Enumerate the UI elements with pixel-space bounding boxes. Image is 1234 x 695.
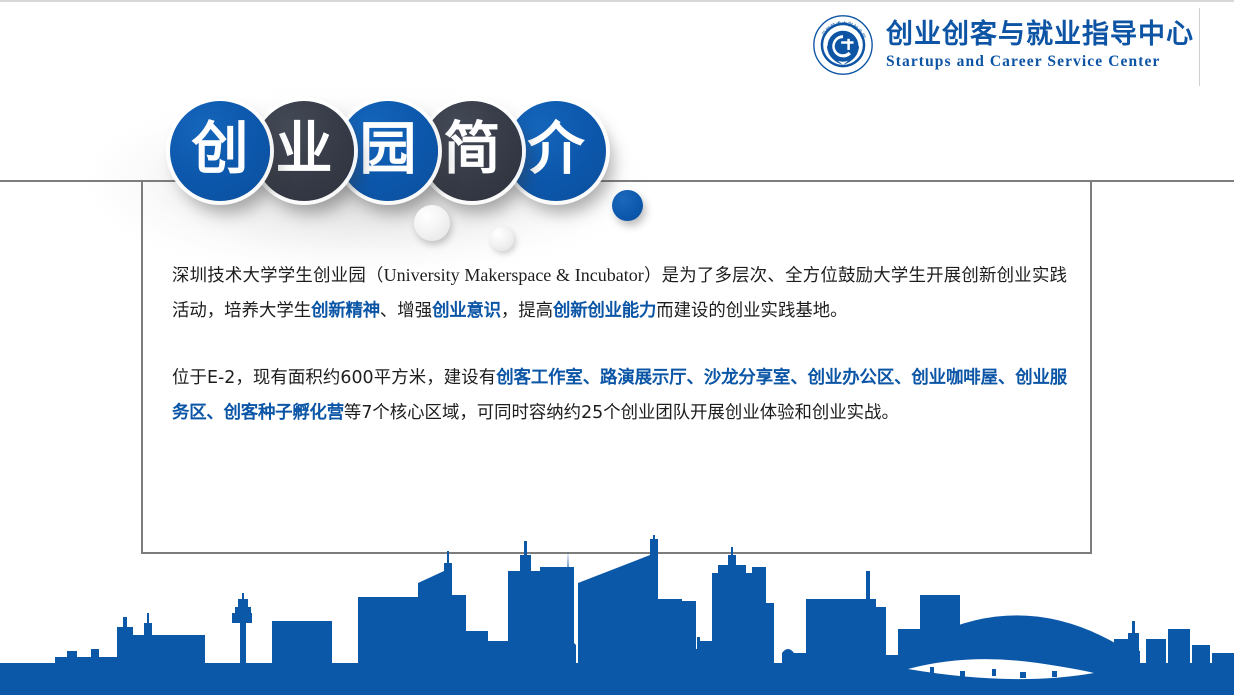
p1-highlight-3: 创新创业能力: [553, 301, 656, 321]
decorative-bubble-blue-icon: [612, 190, 643, 221]
p1-english-name: University Makerspace & Incubator: [384, 265, 644, 285]
org-name-cn: 创业创客与就业指导中心: [886, 21, 1194, 48]
header-divider: [1199, 8, 1200, 86]
title-char-3: 园: [360, 121, 417, 178]
title-char-2: 业: [276, 121, 333, 178]
header-logo-text: 创业创客与就业指导中心 Startups and Career Service …: [886, 21, 1194, 70]
p1-seg5: ，提高: [501, 301, 553, 321]
top-hairline: [0, 0, 1234, 2]
paragraph-2: 位于E-2，现有面积约600平方米，建设有创客工作室、路演展示厅、沙龙分享室、创…: [172, 361, 1067, 431]
city-skyline-silhouette-icon: [0, 535, 1234, 695]
paragraph-1: 深圳技术大学学生创业园（University Makerspace & Incu…: [172, 258, 1067, 329]
decorative-bubble-small-icon: [490, 227, 514, 251]
slide-canvas: 深圳技术大学创业园 创业创客与就业指导中心 Startups and Caree…: [0, 0, 1234, 695]
header-logo: 深圳技术大学创业园 创业创客与就业指导中心 Startups and Caree…: [812, 14, 1194, 76]
org-name-en: Startups and Career Service Center: [886, 54, 1160, 70]
body-copy: 深圳技术大学学生创业园（University Makerspace & Incu…: [172, 258, 1067, 431]
p1-seg1: 深圳技术大学学生创业园（: [172, 266, 384, 286]
title-char-1: 创: [192, 121, 249, 178]
title-char-5: 介: [528, 121, 585, 178]
p1-seg4: 、增强: [380, 301, 432, 321]
decorative-bubble-large-icon: [414, 205, 450, 241]
p1-seg6: 而建设的创业实践基地。: [656, 301, 847, 321]
university-seal-icon: 深圳技术大学创业园: [812, 14, 874, 76]
p1-highlight-2: 创业意识: [432, 301, 501, 321]
title-circle-1: 创: [170, 101, 270, 201]
p1-highlight-1: 创新精神: [311, 301, 380, 321]
p2-seg2: 等7个核心区域，可同时容纳约25个创业团队开展创业体验和创业实战。: [344, 403, 899, 423]
p2-seg1: 位于E-2，现有面积约600平方米，建设有: [172, 368, 496, 388]
title-char-4: 简: [444, 121, 501, 178]
